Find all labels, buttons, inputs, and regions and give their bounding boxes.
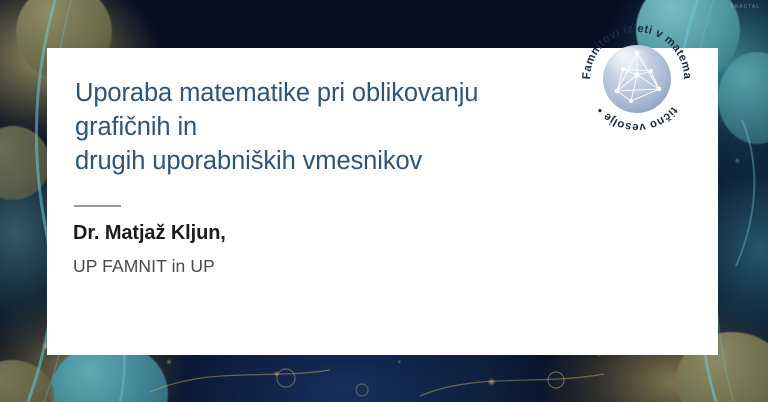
title-line-2: grafičnih in bbox=[75, 110, 575, 144]
author-name: Dr. Matjaž Kljun, bbox=[73, 222, 226, 245]
famnitovi-izleti-logo: Famnitovi izleti v matema tično vesolje … bbox=[571, 13, 703, 145]
background-watermark: fractal bbox=[731, 4, 760, 10]
title-divider bbox=[74, 205, 121, 207]
title-slide: fractal Uporaba matematike pri oblikovan… bbox=[0, 0, 768, 402]
page-title: Uporaba matematike pri oblikovanju grafi… bbox=[75, 76, 575, 178]
title-line-3: drugih uporabniških vmesnikov bbox=[75, 144, 575, 178]
author-affiliation: UP FAMNIT in UP bbox=[73, 256, 215, 277]
logo-sphere-gloss bbox=[605, 47, 653, 83]
title-line-1: Uporaba matematike pri oblikovanju bbox=[75, 76, 575, 110]
